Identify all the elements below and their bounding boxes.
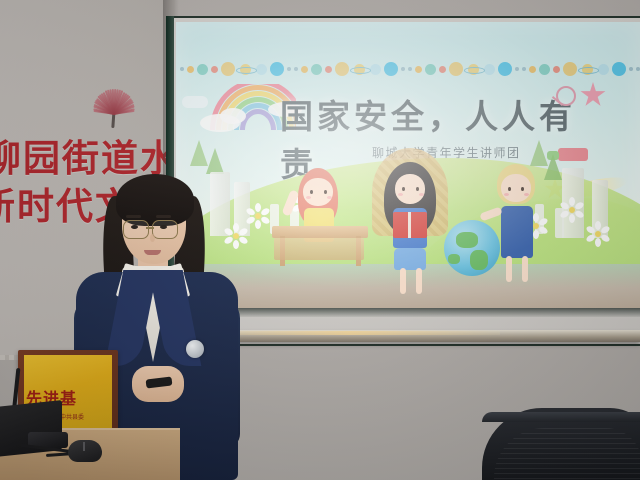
computer-mouse: [68, 440, 102, 462]
eyebrow-left: [126, 215, 141, 218]
glasses-bridge: [146, 227, 154, 229]
badge-pin: [186, 340, 204, 358]
nose: [150, 234, 155, 242]
chair-mesh: [494, 428, 640, 480]
photo-scene: 柳园街道水韵社 新时代文明实 国家安全，人人有责 聊城大学青年学生讲师团: [0, 0, 640, 480]
fan-lotus-logo-icon: [82, 62, 144, 124]
chair-rim: [482, 412, 640, 422]
eyebrow-right: [156, 215, 171, 218]
hair-top: [116, 174, 194, 226]
glasses-lens-right: [152, 220, 178, 239]
eye-left: [131, 225, 138, 229]
plaque-subtext: 中共县委: [60, 412, 84, 421]
glasses-lens-left: [123, 220, 149, 239]
mouth: [144, 250, 161, 255]
eye-right: [160, 225, 167, 229]
